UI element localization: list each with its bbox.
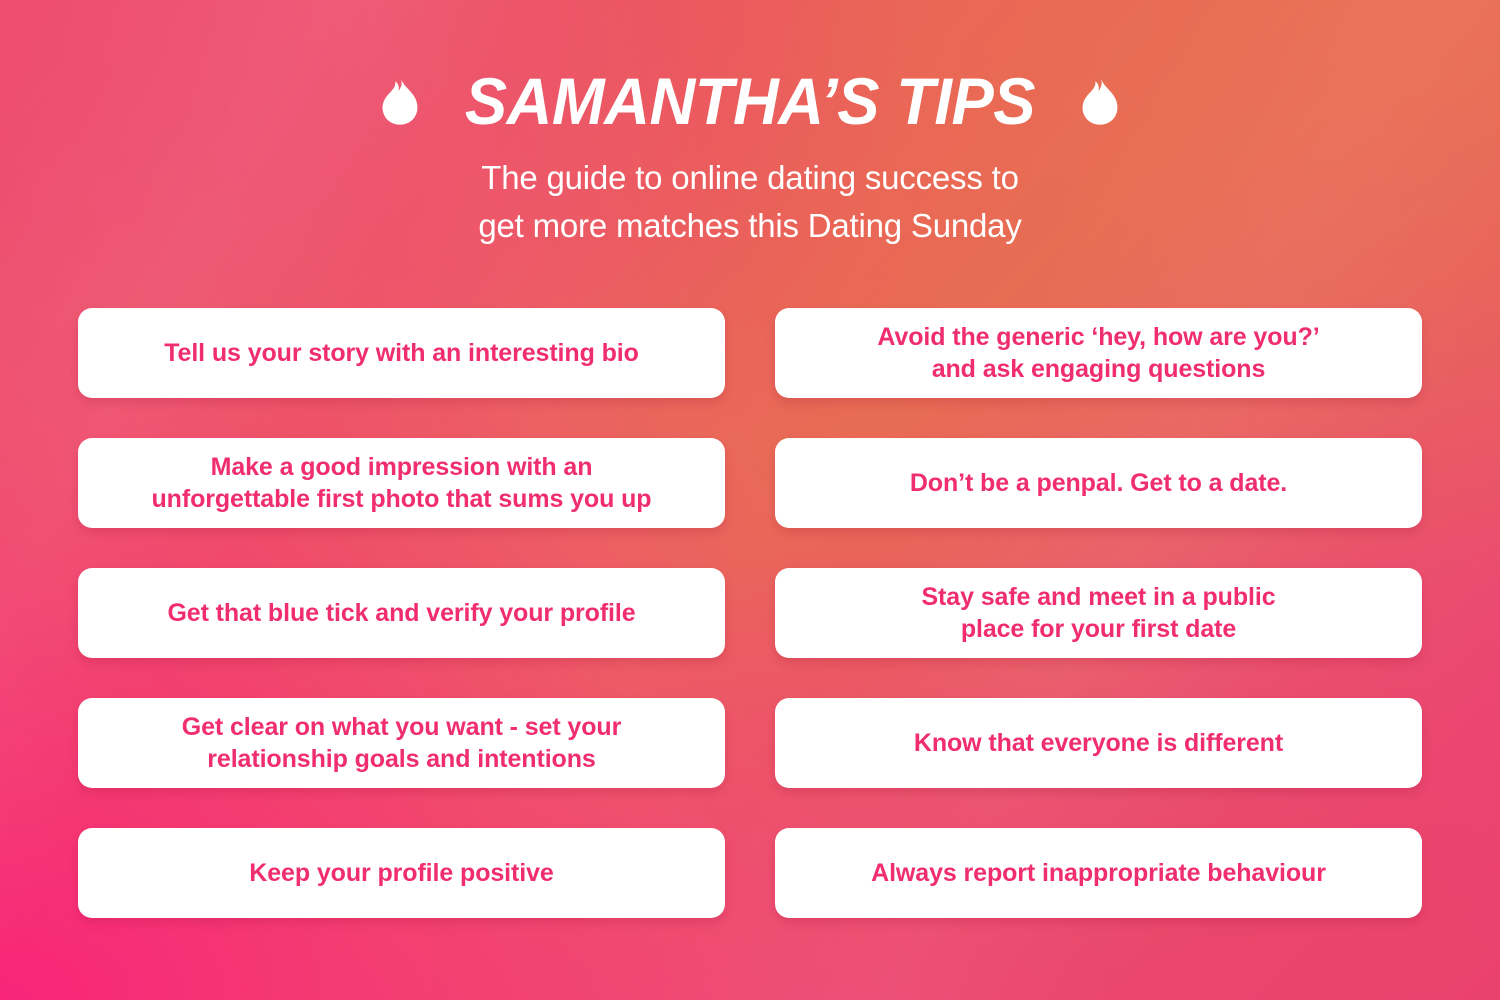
tip-card-line-1: Don’t be a penpal. Get to a date. bbox=[910, 467, 1287, 500]
tip-card[interactable]: Don’t be a penpal. Get to a date. bbox=[775, 438, 1422, 528]
tip-card-line-1: Get that blue tick and verify your profi… bbox=[167, 597, 635, 630]
tip-card-text: Avoid the generic ‘hey, how are you?’ an… bbox=[877, 321, 1319, 386]
tip-card[interactable]: Tell us your story with an interesting b… bbox=[78, 308, 725, 398]
tip-card-text: Tell us your story with an interesting b… bbox=[164, 337, 639, 370]
tip-card-text: Get that blue tick and verify your profi… bbox=[167, 597, 635, 630]
page-title: SAMANTHA’S TIPS bbox=[465, 68, 1035, 134]
tip-card-line-2: unforgettable first photo that sums you … bbox=[152, 483, 652, 516]
title-row: SAMANTHA’S TIPS bbox=[0, 60, 1500, 142]
tip-card[interactable]: Make a good impression with an unforgett… bbox=[78, 438, 725, 528]
tip-card-text: Get clear on what you want - set your re… bbox=[182, 711, 621, 776]
tip-card-line-2: and ask engaging questions bbox=[877, 353, 1319, 386]
tip-card-line-1: Always report inappropriate behaviour bbox=[871, 857, 1326, 890]
tip-card-line-1: Avoid the generic ‘hey, how are you?’ bbox=[877, 321, 1319, 354]
flame-icon bbox=[1081, 77, 1119, 125]
tips-grid: Tell us your story with an interesting b… bbox=[78, 308, 1422, 918]
tip-card-line-1: Tell us your story with an interesting b… bbox=[164, 337, 639, 370]
tip-card[interactable]: Know that everyone is different bbox=[775, 698, 1422, 788]
tip-card-text: Don’t be a penpal. Get to a date. bbox=[910, 467, 1287, 500]
tip-card-line-1: Make a good impression with an bbox=[152, 451, 652, 484]
tip-card[interactable]: Get clear on what you want - set your re… bbox=[78, 698, 725, 788]
tip-card-line-1: Get clear on what you want - set your bbox=[182, 711, 621, 744]
flame-icon bbox=[381, 77, 419, 125]
header: SAMANTHA’S TIPS The guide to online dati… bbox=[0, 60, 1500, 249]
tip-card-text: Make a good impression with an unforgett… bbox=[152, 451, 652, 516]
infographic-page: SAMANTHA’S TIPS The guide to online dati… bbox=[0, 0, 1500, 1000]
tip-card[interactable]: Keep your profile positive bbox=[78, 828, 725, 918]
tip-card[interactable]: Stay safe and meet in a public place for… bbox=[775, 568, 1422, 658]
tip-card-line-2: place for your first date bbox=[921, 613, 1275, 646]
tip-card-line-1: Keep your profile positive bbox=[249, 857, 553, 890]
page-subtitle-line-2: get more matches this Dating Sunday bbox=[0, 202, 1500, 250]
tip-card-line-1: Stay safe and meet in a public bbox=[921, 581, 1275, 614]
page-subtitle-line-1: The guide to online dating success to bbox=[0, 154, 1500, 202]
tip-card-line-1: Know that everyone is different bbox=[914, 727, 1283, 760]
tip-card[interactable]: Get that blue tick and verify your profi… bbox=[78, 568, 725, 658]
page-subtitle: The guide to online dating success to ge… bbox=[0, 154, 1500, 249]
tip-card-text: Stay safe and meet in a public place for… bbox=[921, 581, 1275, 646]
tip-card[interactable]: Avoid the generic ‘hey, how are you?’ an… bbox=[775, 308, 1422, 398]
tip-card-text: Always report inappropriate behaviour bbox=[871, 857, 1326, 890]
tip-card-line-2: relationship goals and intentions bbox=[182, 743, 621, 776]
tip-card-text: Know that everyone is different bbox=[914, 727, 1283, 760]
tip-card-text: Keep your profile positive bbox=[249, 857, 553, 890]
tip-card[interactable]: Always report inappropriate behaviour bbox=[775, 828, 1422, 918]
